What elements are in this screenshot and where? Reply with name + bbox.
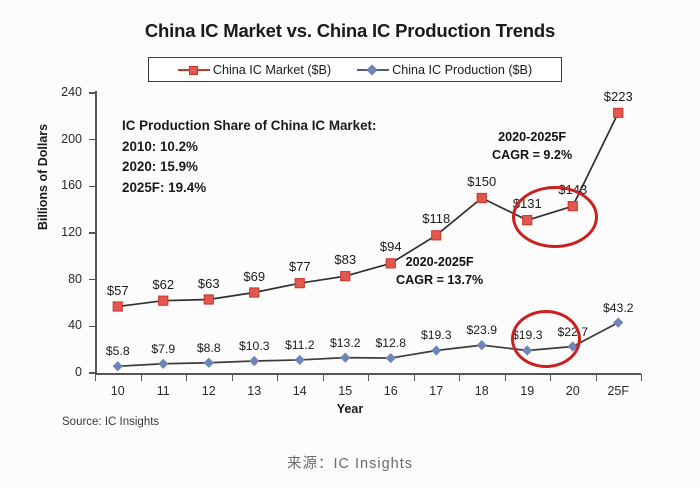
data-point-marker-diamond[interactable] — [249, 356, 259, 366]
cagr-annotation-production: 2020-2025F CAGR = 13.7% — [396, 253, 483, 289]
chart-canvas: China IC Market vs. China IC Production … — [0, 0, 700, 440]
data-point-marker-square[interactable] — [477, 193, 486, 202]
data-point-marker-diamond[interactable] — [158, 359, 168, 369]
data-point-marker-square[interactable] — [432, 231, 441, 240]
figure-caption: 来源：IC Insights — [0, 452, 700, 473]
data-point-marker-diamond[interactable] — [204, 358, 214, 368]
data-point-label: $223 — [588, 89, 648, 104]
cagr-annotation-market: 2020-2025F CAGR = 9.2% — [492, 128, 572, 164]
data-point-label: $43.2 — [588, 301, 648, 315]
data-point-marker-square[interactable] — [159, 296, 168, 305]
share-annotation-heading: IC Production Share of China IC Market: — [122, 116, 376, 137]
share-annotation-line-2020: 2020: 15.9% — [122, 157, 376, 178]
chart-figure: China IC Market vs. China IC Production … — [0, 0, 700, 488]
data-point-marker-diamond[interactable] — [477, 340, 487, 350]
data-point-marker-square[interactable] — [386, 259, 395, 268]
data-point-marker-diamond[interactable] — [386, 353, 396, 363]
highlight-ellipse-production — [511, 310, 581, 368]
source-note: Source: IC Insights — [62, 416, 159, 428]
data-point-marker-diamond[interactable] — [295, 355, 305, 365]
cagr-market-value: CAGR = 9.2% — [492, 146, 572, 164]
data-point-marker-square[interactable] — [204, 295, 213, 304]
data-point-marker-diamond[interactable] — [340, 353, 350, 363]
data-point-marker-diamond[interactable] — [431, 345, 441, 355]
share-annotation-line-2010: 2010: 10.2% — [122, 137, 376, 158]
data-point-marker-diamond[interactable] — [113, 361, 123, 371]
highlight-ellipse-market — [512, 186, 598, 248]
share-annotation-line-2025f: 2025F: 19.4% — [122, 178, 376, 199]
cagr-production-period: 2020-2025F — [396, 253, 483, 271]
cagr-market-period: 2020-2025F — [492, 128, 572, 146]
data-point-marker-square[interactable] — [295, 279, 304, 288]
data-point-marker-square[interactable] — [113, 302, 122, 311]
cagr-production-value: CAGR = 13.7% — [396, 271, 483, 289]
data-point-marker-square[interactable] — [250, 288, 259, 297]
data-point-label: $118 — [406, 211, 466, 226]
share-annotation: IC Production Share of China IC Market: … — [122, 116, 376, 198]
data-point-marker-square[interactable] — [341, 272, 350, 281]
data-point-marker-diamond[interactable] — [613, 318, 623, 328]
data-point-label: $150 — [452, 174, 512, 189]
data-point-label: $83 — [315, 252, 375, 267]
data-point-marker-square[interactable] — [614, 108, 623, 117]
